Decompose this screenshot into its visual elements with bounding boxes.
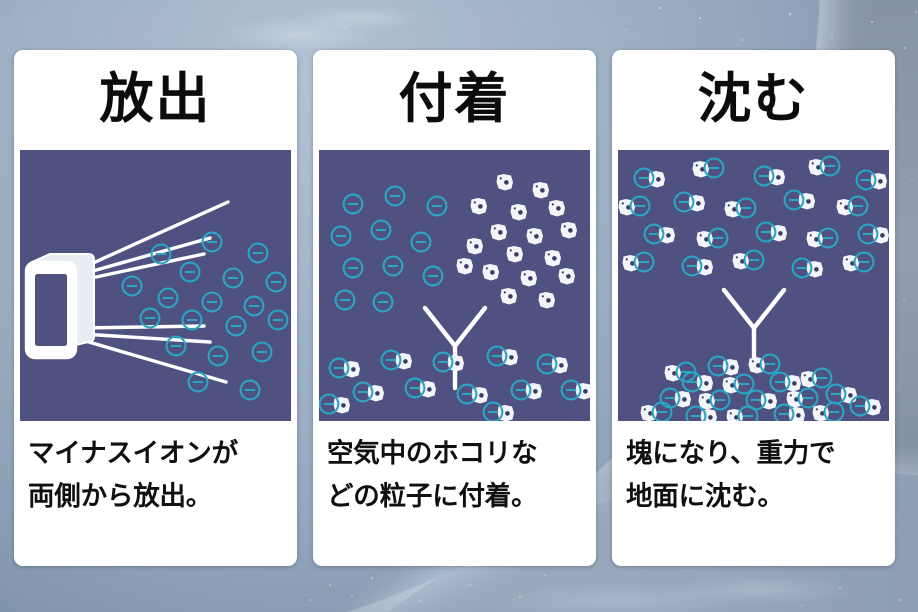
step-2-title: 付着: [313, 50, 596, 148]
step-3-illustration: [618, 150, 889, 421]
step-card-2: 付着: [313, 50, 596, 566]
dust-particle-group: [457, 174, 578, 309]
settled-cluster: [641, 355, 882, 421]
step-1-title: 放出: [14, 50, 297, 148]
emission-rays: [82, 202, 228, 382]
negative-ion-group: [123, 233, 288, 400]
step-2-illustration: [319, 150, 590, 421]
free-ion-group: [332, 187, 447, 312]
infographic-root: 放出: [0, 0, 918, 612]
step-1-caption: マイナスイオンが 両側から放出。: [28, 432, 284, 518]
step-card-3: 沈む: [612, 50, 895, 566]
merge-arrow: [425, 308, 485, 388]
step-2-caption: 空気中のホコリな どの粒子に付着。: [327, 432, 583, 518]
step-2-caption-line-1: 空気中のホコリな: [327, 432, 583, 475]
step-3-caption-line-2: 地面に沈む。: [626, 475, 882, 518]
floating-pair-group: [619, 157, 890, 278]
step-card-1: 放出: [14, 50, 297, 566]
step-1-caption-line-2: 両側から放出。: [28, 475, 284, 518]
step-3-caption: 塊になり、重力で 地面に沈む。: [626, 432, 882, 518]
step-1-illustration: [20, 150, 291, 421]
step-3-title: 沈む: [612, 50, 895, 148]
settling-arrow: [724, 290, 784, 362]
step-3-caption-line-1: 塊になり、重力で: [626, 432, 882, 475]
step-1-caption-line-1: マイナスイオンが: [28, 432, 284, 475]
step-2-caption-line-2: どの粒子に付着。: [327, 475, 583, 518]
ion-generator-device: [26, 254, 94, 358]
